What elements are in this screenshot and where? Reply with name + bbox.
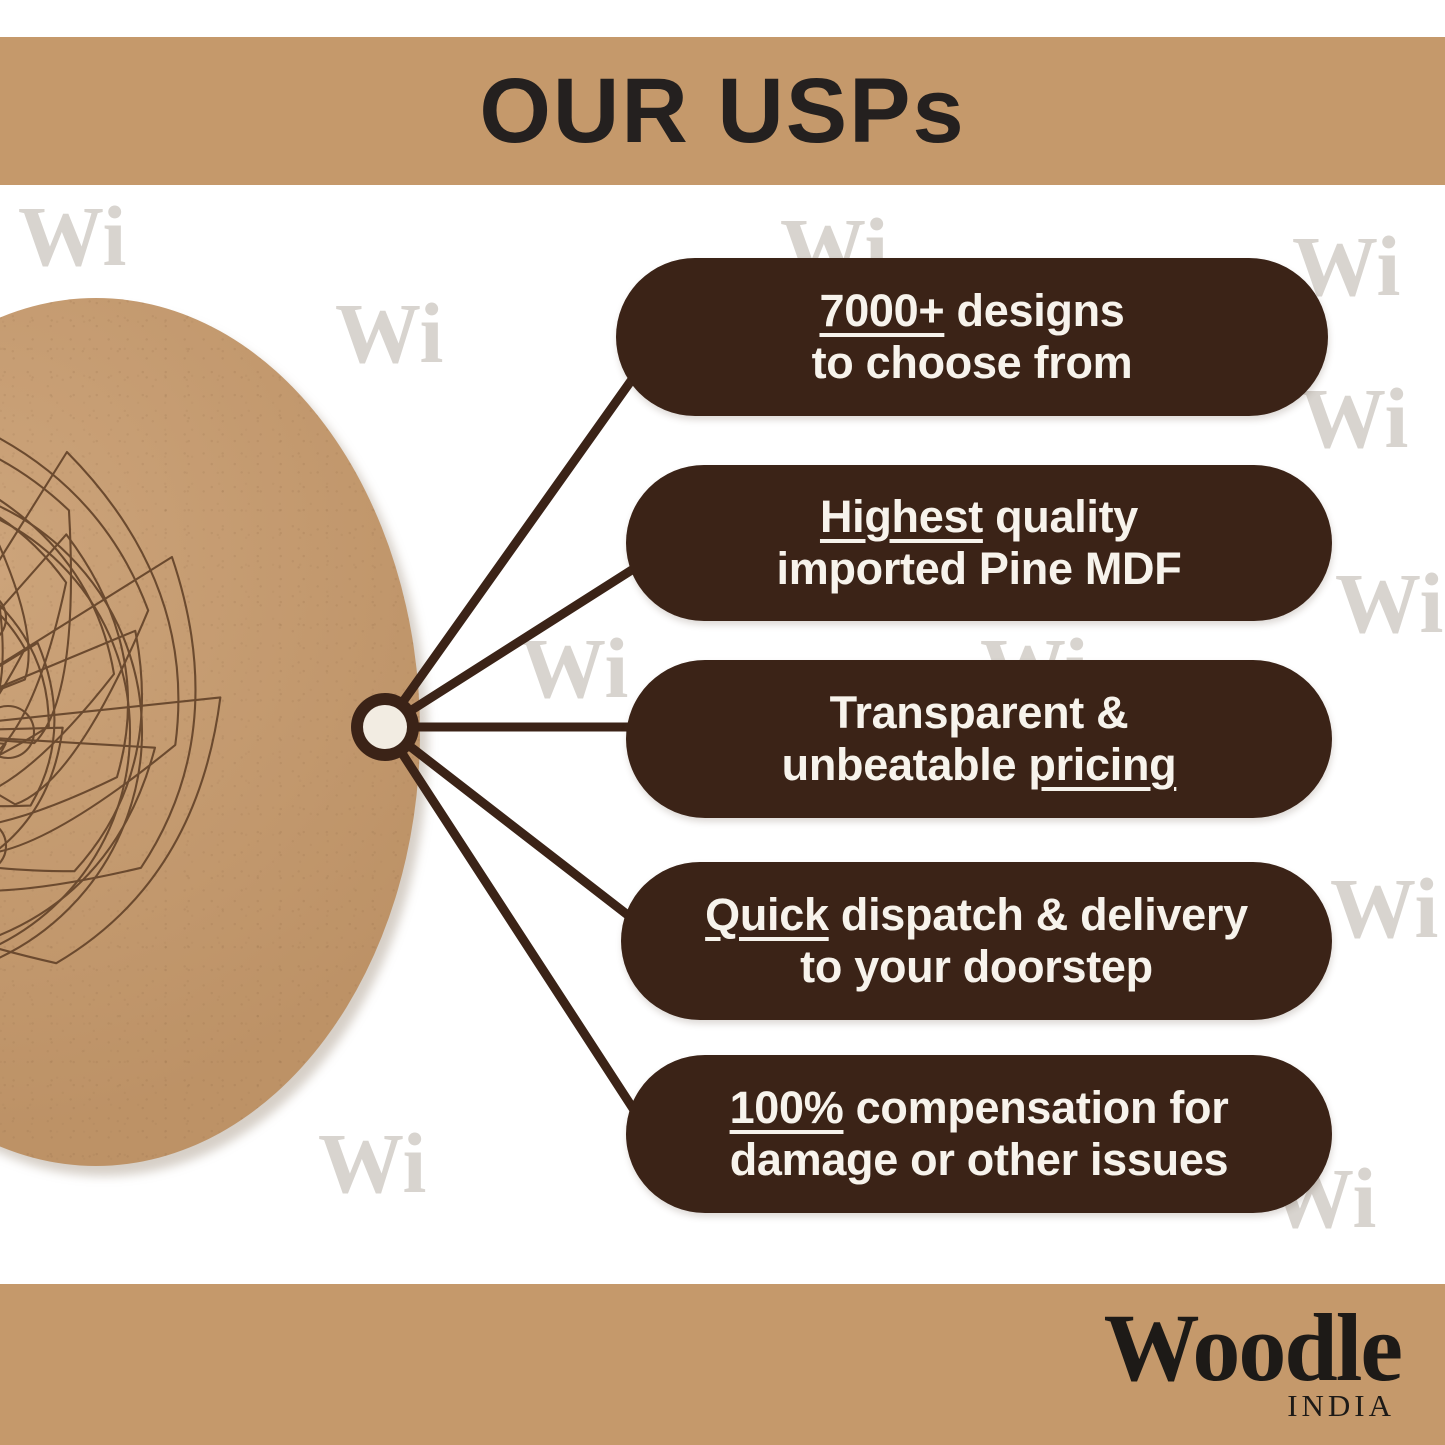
usp-line-1: Transparent & [830, 687, 1129, 739]
watermark-mark-4: Wi [1300, 375, 1408, 461]
usp-text: compensation for [843, 1082, 1228, 1133]
usp-text: quality [983, 491, 1138, 542]
usp-highlight: Highest [820, 491, 983, 542]
usp-line-2: unbeatable pricing [782, 739, 1177, 791]
mandala-engraving-icon [0, 298, 420, 1166]
mdf-mandala-disc-artwork [0, 298, 432, 1178]
watermark-mark-0: Wi [18, 193, 126, 279]
usp-line-2: to choose from [812, 337, 1133, 389]
usp-line-1: Highest quality [820, 491, 1138, 543]
usp-card-pricing[interactable]: Transparent & unbeatable pricing [626, 660, 1332, 818]
usp-line-2: imported Pine MDF [777, 543, 1182, 595]
usp-line-2: damage or other issues [730, 1134, 1229, 1186]
usp-card-designs-count[interactable]: 7000+ designs to choose from [616, 258, 1328, 416]
page-title: OUR USPs [479, 65, 965, 157]
watermark-mark-7: Wi [520, 625, 628, 711]
mdf-disc [0, 298, 420, 1166]
usp-line-1: Quick dispatch & delivery [705, 889, 1248, 941]
usp-text: dispatch & delivery [829, 889, 1248, 940]
usp-text: unbeatable [782, 739, 1029, 790]
footer-banner: Woodle INDIA [0, 1284, 1445, 1445]
brand-logo: Woodle INDIA [1104, 1300, 1401, 1421]
usp-highlight: 7000+ [819, 285, 944, 336]
usp-line-2: to your doorstep [800, 941, 1153, 993]
infographic-canvas: WiWiWiWiWiWiWiWiWiWiWiWi [0, 0, 1445, 1445]
watermark-mark-6: Wi [1335, 560, 1443, 646]
usp-line-1: 100% compensation for [730, 1082, 1229, 1134]
watermark-mark-9: Wi [1330, 865, 1438, 951]
usp-highlight: pricing [1028, 739, 1176, 790]
usp-card-dispatch-delivery[interactable]: Quick dispatch & delivery to your doorst… [621, 862, 1332, 1020]
usp-highlight: 100% [730, 1082, 844, 1133]
header-banner: OUR USPs [0, 37, 1445, 185]
usp-card-material-quality[interactable]: Highest quality imported Pine MDF [626, 465, 1332, 621]
brand-wordmark: Woodle [1104, 1300, 1401, 1396]
usp-card-compensation[interactable]: 100% compensation for damage or other is… [626, 1055, 1332, 1213]
usp-highlight: Quick [705, 889, 829, 940]
usp-line-1: 7000+ designs [819, 285, 1124, 337]
usp-text: designs [944, 285, 1124, 336]
